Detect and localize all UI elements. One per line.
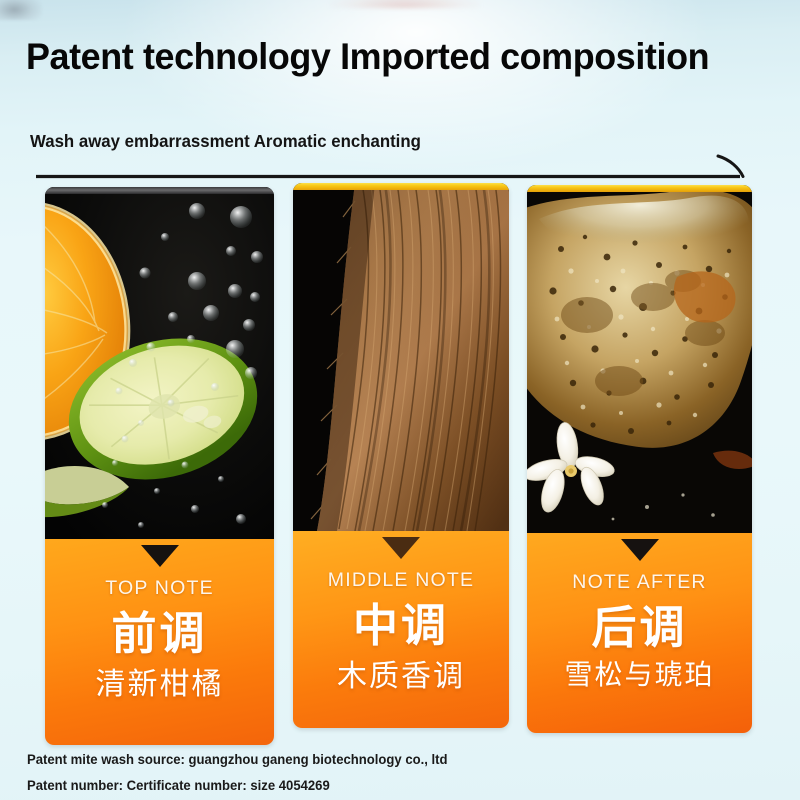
note-sub-label: 雪松与琥珀 [527, 653, 752, 693]
card-top-rim [45, 187, 274, 194]
note-cn-label: 前调 [45, 597, 274, 662]
footer-source-line: Patent mite wash source: guangzhou ganen… [27, 752, 448, 767]
card-middle-note[interactable]: MIDDLE NOTE 中调 木质香调 [293, 183, 509, 728]
note-sub-label: 木质香调 [293, 651, 509, 695]
card-top-rim [293, 183, 509, 190]
triangle-down-icon [621, 539, 659, 561]
amber-resin-jasmine-image [527, 185, 752, 533]
card-label-middle-note: MIDDLE NOTE 中调 木质香调 [293, 531, 509, 728]
fragrance-note-cards: TOP NOTE 前调 清新柑橘 [0, 0, 800, 800]
product-poster: Patent technology Imported composition W… [0, 0, 800, 800]
triangle-down-icon [141, 545, 179, 567]
card-photo-note-after [527, 185, 752, 533]
card-photo-top-note [45, 187, 274, 539]
orange-lime-water-image [45, 187, 274, 539]
note-cn-label: 中调 [293, 589, 509, 654]
card-label-top-note: TOP NOTE 前调 清新柑橘 [45, 539, 274, 745]
footer-patent-line: Patent number: Certificate number: size … [27, 778, 330, 793]
card-top-note[interactable]: TOP NOTE 前调 清新柑橘 [45, 187, 274, 745]
card-note-after[interactable]: NOTE AFTER 后调 雪松与琥珀 [527, 185, 752, 733]
note-cn-label: 后调 [527, 591, 752, 656]
note-sub-label: 清新柑橘 [45, 659, 274, 703]
card-photo-middle-note [293, 183, 509, 531]
card-top-rim [527, 185, 752, 192]
card-label-note-after: NOTE AFTER 后调 雪松与琥珀 [527, 533, 752, 733]
agarwood-bark-image [293, 183, 509, 531]
triangle-down-icon [382, 537, 420, 559]
